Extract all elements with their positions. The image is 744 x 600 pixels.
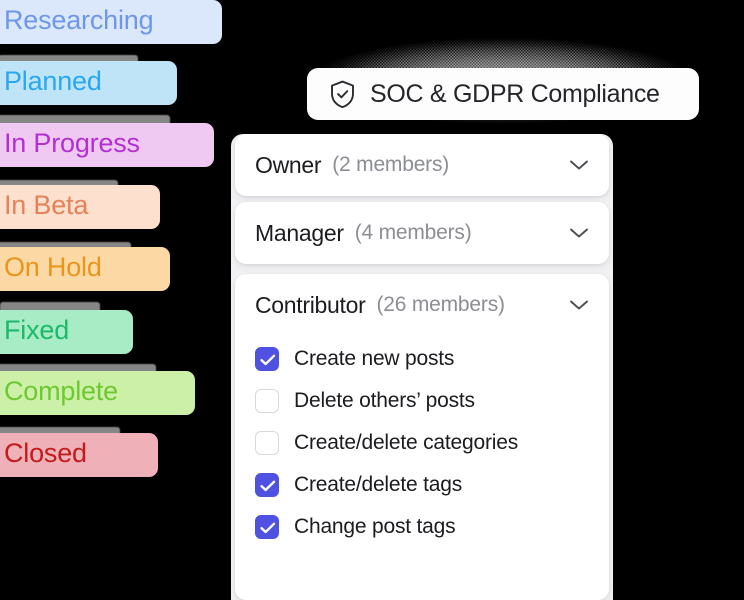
role-name: Manager — [255, 220, 344, 247]
role-member-count: (26 members) — [376, 293, 504, 317]
role-member-count: (4 members) — [355, 221, 472, 245]
permission-label: Create/delete categories — [294, 431, 518, 455]
chevron-down-icon[interactable] — [569, 227, 589, 239]
status-badge[interactable]: Fixed — [0, 310, 133, 354]
permission-label: Change post tags — [294, 515, 455, 539]
permission-label: Delete others’ posts — [294, 389, 475, 413]
status-badge[interactable]: Closed — [0, 433, 158, 477]
permission-row[interactable]: Change post tags — [235, 506, 609, 548]
soc-gdpr-compliance-button[interactable]: SOC & GDPR Compliance — [307, 68, 699, 120]
roles-permissions-panel: Owner(2 members)Manager(4 members)Contri… — [231, 134, 613, 600]
role-card-owner: Owner(2 members) — [235, 134, 609, 196]
status-badge-column: ResearchingPlannedIn ProgressIn BetaOn H… — [0, 0, 240, 600]
permission-label: Create new posts — [294, 347, 454, 371]
compliance-label: SOC & GDPR Compliance — [370, 80, 660, 109]
status-badge[interactable]: On Hold — [0, 247, 170, 291]
status-badge[interactable]: In Progress — [0, 123, 214, 167]
permission-row[interactable]: Create new posts — [235, 338, 609, 380]
chevron-down-icon[interactable] — [569, 159, 589, 171]
permission-label: Create/delete tags — [294, 473, 462, 497]
permission-checkbox[interactable] — [255, 347, 279, 371]
permission-checkbox[interactable] — [255, 515, 279, 539]
role-member-count: (2 members) — [332, 153, 449, 177]
status-badge[interactable]: Planned — [0, 61, 177, 105]
role-name: Contributor — [255, 292, 365, 319]
permission-checkbox[interactable] — [255, 389, 279, 413]
check-icon — [259, 521, 277, 535]
permission-checkbox[interactable] — [255, 473, 279, 497]
role-header-contributor[interactable]: Contributor(26 members) — [235, 274, 609, 336]
role-header-owner[interactable]: Owner(2 members) — [235, 134, 609, 196]
check-icon — [259, 353, 277, 367]
role-name: Owner — [255, 152, 321, 179]
permission-row[interactable]: Create/delete tags — [235, 464, 609, 506]
status-badge[interactable]: In Beta — [0, 185, 160, 229]
role-header-manager[interactable]: Manager(4 members) — [235, 202, 609, 264]
role-card-contributor: Contributor(26 members)Create new postsD… — [235, 274, 609, 600]
permission-row[interactable]: Create/delete categories — [235, 422, 609, 464]
permission-row[interactable]: Delete others’ posts — [235, 380, 609, 422]
status-badge[interactable]: Researching — [0, 0, 222, 44]
compliance-pill-container: SOC & GDPR Compliance — [262, 24, 742, 138]
role-card-manager: Manager(4 members) — [235, 202, 609, 264]
permission-list: Create new postsDelete others’ postsCrea… — [235, 336, 609, 564]
status-badge[interactable]: Complete — [0, 371, 195, 415]
chevron-down-icon[interactable] — [569, 299, 589, 311]
check-icon — [259, 479, 277, 493]
shield-check-icon — [329, 80, 356, 109]
permission-checkbox[interactable] — [255, 431, 279, 455]
